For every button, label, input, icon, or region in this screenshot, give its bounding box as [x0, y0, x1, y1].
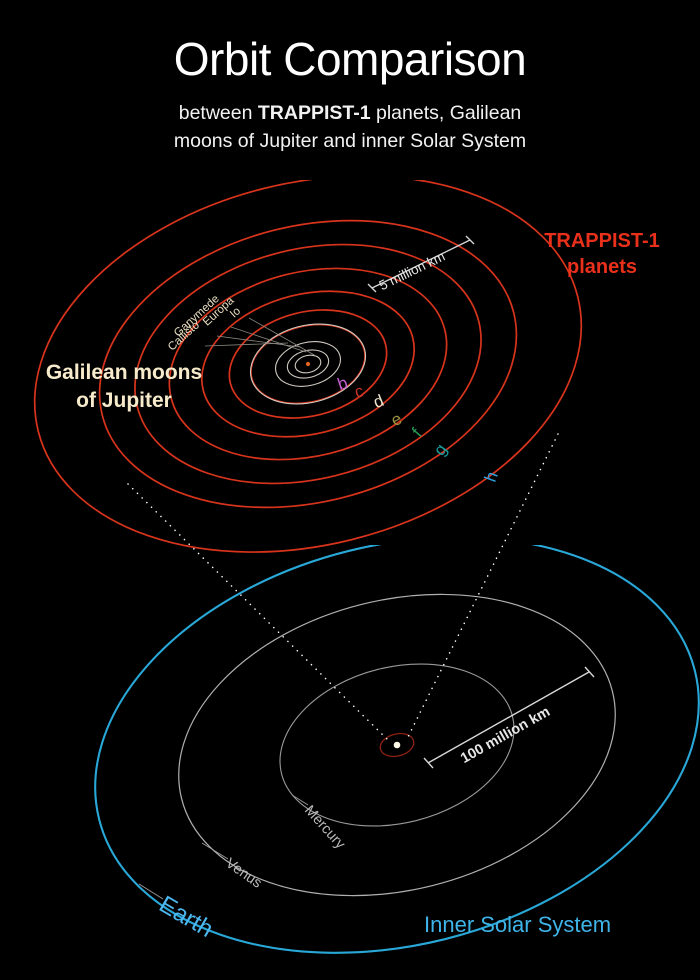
sun	[394, 742, 401, 749]
trappist-heading-line-2: planets	[532, 254, 672, 280]
solar-leader-lines	[139, 795, 308, 899]
guide-line-left	[128, 484, 389, 741]
scale-cap-right-trappist	[466, 236, 474, 244]
galilean-heading-line-1: Galilean moons	[24, 359, 224, 387]
infographic-canvas: Orbit Comparison between TRAPPIST-1 plan…	[0, 0, 700, 980]
guide-line-right	[406, 434, 558, 741]
trappist-section-heading: TRAPPIST-1 planets	[532, 228, 672, 280]
subtitle-trappist-bold: TRAPPIST-1	[258, 102, 371, 124]
orbit-earth	[51, 477, 700, 980]
leader-venus	[202, 843, 228, 859]
galilean-section-heading: Galilean moons of Jupiter	[24, 359, 224, 414]
trappist-heading-line-1: TRAPPIST-1	[532, 228, 672, 254]
scale-cap-left-trappist	[368, 284, 376, 292]
leader-callisto	[205, 343, 288, 346]
inner-solar-system-heading: Inner Solar System	[424, 912, 611, 938]
subtitle-part-1: between	[179, 102, 258, 124]
trappist-star	[306, 362, 310, 366]
subtitle-part-2: planets, Galilean	[371, 102, 522, 124]
solar-orbit-group	[51, 477, 700, 980]
scale-cap-left-solar	[424, 758, 433, 768]
subtitle-line-2: moons of Jupiter and inner Solar System	[174, 130, 526, 152]
page-subtitle: between TRAPPIST-1 planets, Galilean moo…	[0, 100, 700, 155]
page-title: Orbit Comparison	[0, 36, 700, 82]
galilean-heading-line-2: of Jupiter	[24, 387, 224, 415]
scale-cap-right-solar	[585, 667, 594, 677]
scale-bar-line-solar	[428, 672, 589, 763]
